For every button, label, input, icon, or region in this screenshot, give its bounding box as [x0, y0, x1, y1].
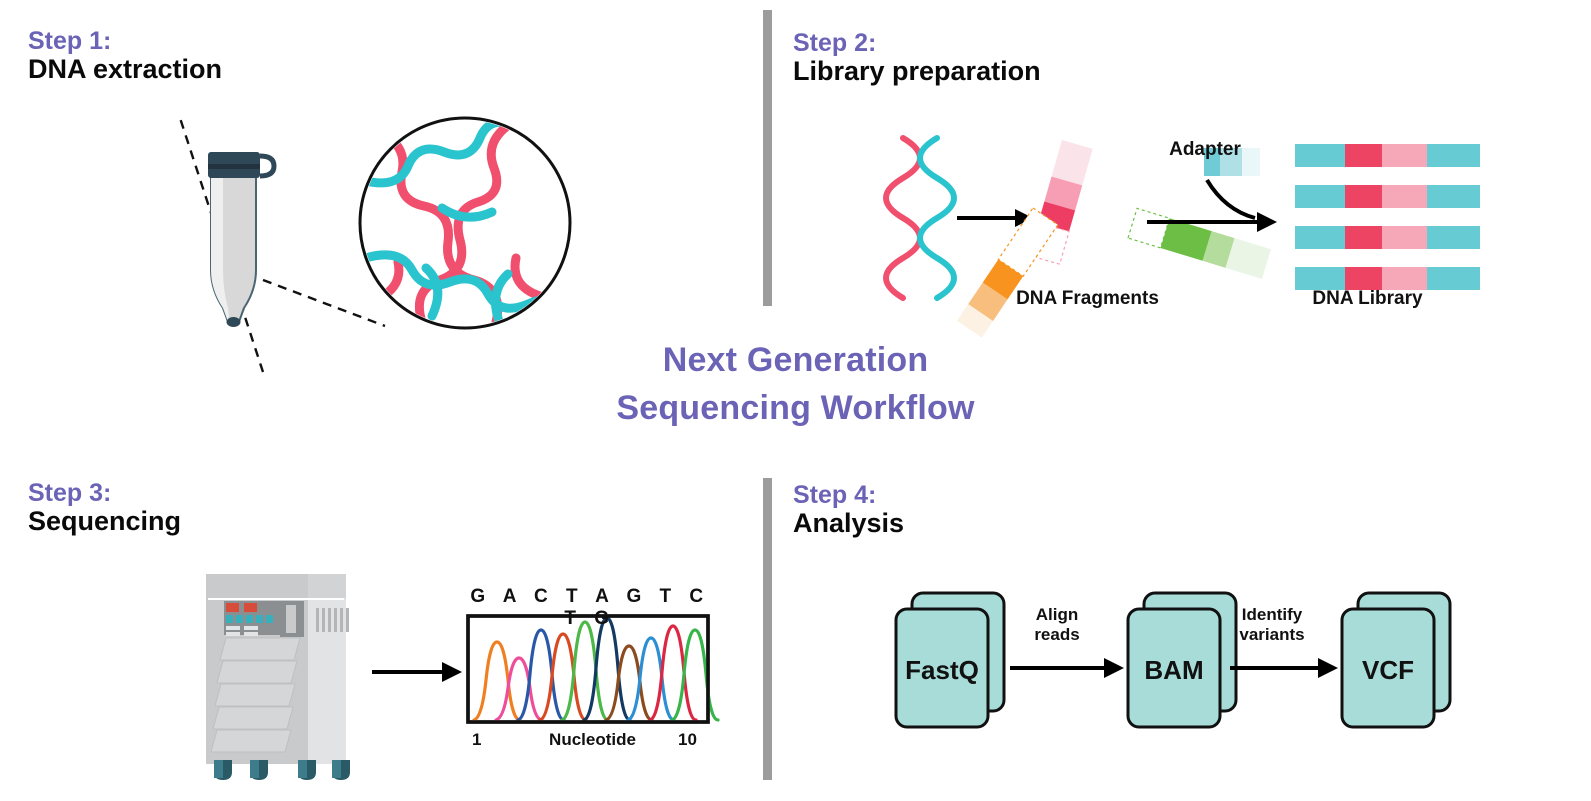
align-reads-arrow — [1010, 658, 1124, 678]
magnified-dna-circle — [360, 118, 572, 328]
divider-vertical-top — [763, 10, 772, 306]
dna-fragment-orange — [957, 208, 1058, 338]
identify-variants-label: Identify variants — [1222, 605, 1322, 644]
step-4-header: Step 4: Analysis — [793, 482, 904, 539]
step-1-kicker: Step 1: — [28, 28, 222, 54]
step-2-title: Library preparation — [793, 56, 1041, 87]
step-4-title: Analysis — [793, 508, 904, 539]
fastq-label: FastQ — [896, 655, 988, 686]
library-bar — [1295, 185, 1480, 208]
dna-extraction-illustration — [180, 118, 580, 333]
library-bar — [1295, 267, 1480, 290]
sequence-letters: G A C T A G T C T G — [470, 586, 710, 630]
identify-variants-line-1: Identify — [1222, 605, 1322, 625]
identify-variants-arrow — [1230, 658, 1338, 678]
align-reads-line-2: reads — [1012, 625, 1102, 645]
sequencing-arrow — [372, 662, 462, 682]
microcentrifuge-tube — [208, 152, 274, 332]
identify-variants-line-2: variants — [1222, 625, 1322, 645]
chromatogram-axis-end: 10 — [678, 730, 697, 750]
sequencer-machine — [206, 574, 350, 780]
adapter-label: Adapter — [1150, 139, 1260, 161]
divider-vertical-bottom — [763, 478, 772, 780]
dna-fragment-green — [1128, 208, 1271, 279]
dna-library-label: DNA Library — [1280, 288, 1455, 310]
diagram-title: Next Generation Sequencing Workflow — [0, 336, 1591, 433]
vcf-label: VCF — [1342, 655, 1434, 686]
step-3-kicker: Step 3: — [28, 480, 181, 506]
step-2-kicker: Step 2: — [793, 30, 1041, 56]
align-reads-line-1: Align — [1012, 605, 1102, 625]
dna-fragments-label: DNA Fragments — [985, 288, 1190, 310]
step-1-title: DNA extraction — [28, 54, 222, 85]
align-reads-label: Align reads — [1012, 605, 1102, 644]
step-3-header: Step 3: Sequencing — [28, 480, 181, 537]
library-bar — [1295, 144, 1480, 167]
bam-label: BAM — [1128, 655, 1220, 686]
diagram-title-line-2: Sequencing Workflow — [0, 384, 1591, 432]
chromatogram-axis-start: 1 — [472, 730, 481, 750]
chromatogram-axis-label: Nucleotide — [500, 730, 685, 750]
step-3-title: Sequencing — [28, 506, 181, 537]
chromatogram — [468, 616, 718, 722]
library-bar — [1295, 226, 1480, 249]
step-2-header: Step 2: Library preparation — [793, 30, 1041, 87]
dna-double-helix — [886, 138, 954, 298]
drawer-shelves — [211, 638, 300, 752]
diagram-title-line-1: Next Generation — [0, 336, 1591, 384]
step-1-header: Step 1: DNA extraction — [28, 28, 222, 85]
step-4-kicker: Step 4: — [793, 482, 904, 508]
dna-library-bars — [1295, 144, 1480, 290]
